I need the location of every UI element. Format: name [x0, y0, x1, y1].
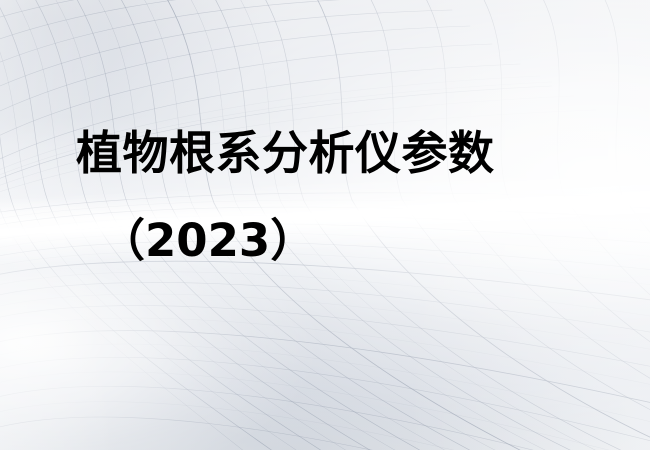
- title-slide: 植物根系分析仪参数 （2023）: [0, 0, 650, 450]
- title-line-year: （2023）: [100, 211, 315, 271]
- title-line-primary: 植物根系分析仪参数: [76, 122, 495, 184]
- page-title: 植物根系分析仪参数 （2023）: [0, 0, 650, 450]
